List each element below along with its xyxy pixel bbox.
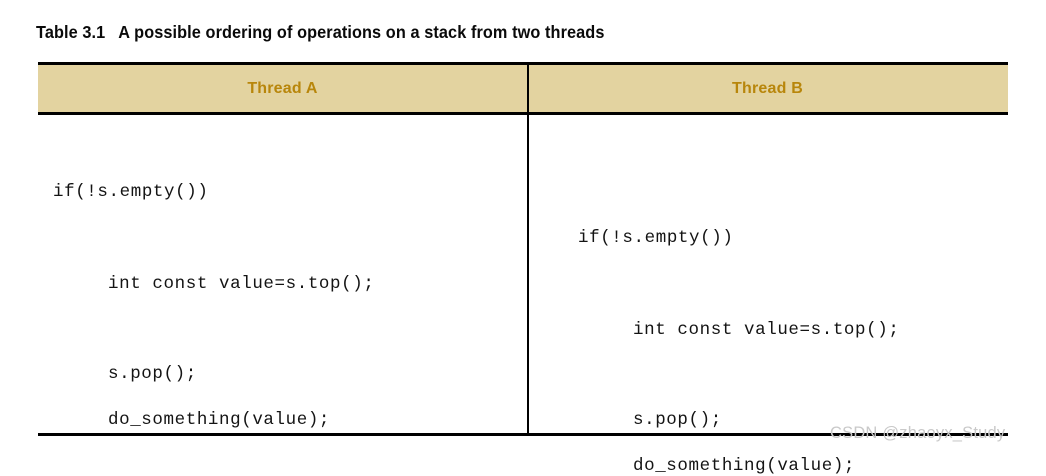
column-header-thread-b-label: Thread B: [732, 80, 803, 98]
code-line: if(!s.empty()): [53, 182, 208, 202]
code-line: int const value=s.top();: [108, 274, 374, 294]
code-line: if(!s.empty()): [578, 228, 733, 248]
thread-a-column: if(!s.empty()) int const value=s.top(); …: [38, 115, 527, 436]
column-header-thread-a: Thread A: [38, 65, 527, 112]
table-caption-text: A possible ordering of operations on a s…: [118, 22, 604, 42]
code-line: do_something(value);: [633, 456, 855, 476]
table-header-row: Thread A Thread B: [38, 65, 1008, 115]
code-line: s.pop();: [633, 410, 722, 430]
thread-b-column: if(!s.empty()) int const value=s.top(); …: [529, 115, 1008, 436]
ordering-table: Thread A Thread B if(!s.empty()) int con…: [38, 62, 1008, 436]
table-body: if(!s.empty()) int const value=s.top(); …: [38, 115, 1008, 436]
watermark: CSDN @zhaoyx_Study: [830, 423, 1005, 443]
column-header-thread-a-label: Thread A: [247, 80, 317, 98]
table-caption: Table 3.1A possible ordering of operatio…: [36, 20, 929, 44]
code-line: int const value=s.top();: [633, 320, 899, 340]
table-caption-label: Table 3.1: [36, 22, 118, 42]
code-line: s.pop();: [108, 364, 197, 384]
code-line: do_something(value);: [108, 410, 330, 430]
column-header-thread-b: Thread B: [527, 65, 1008, 112]
